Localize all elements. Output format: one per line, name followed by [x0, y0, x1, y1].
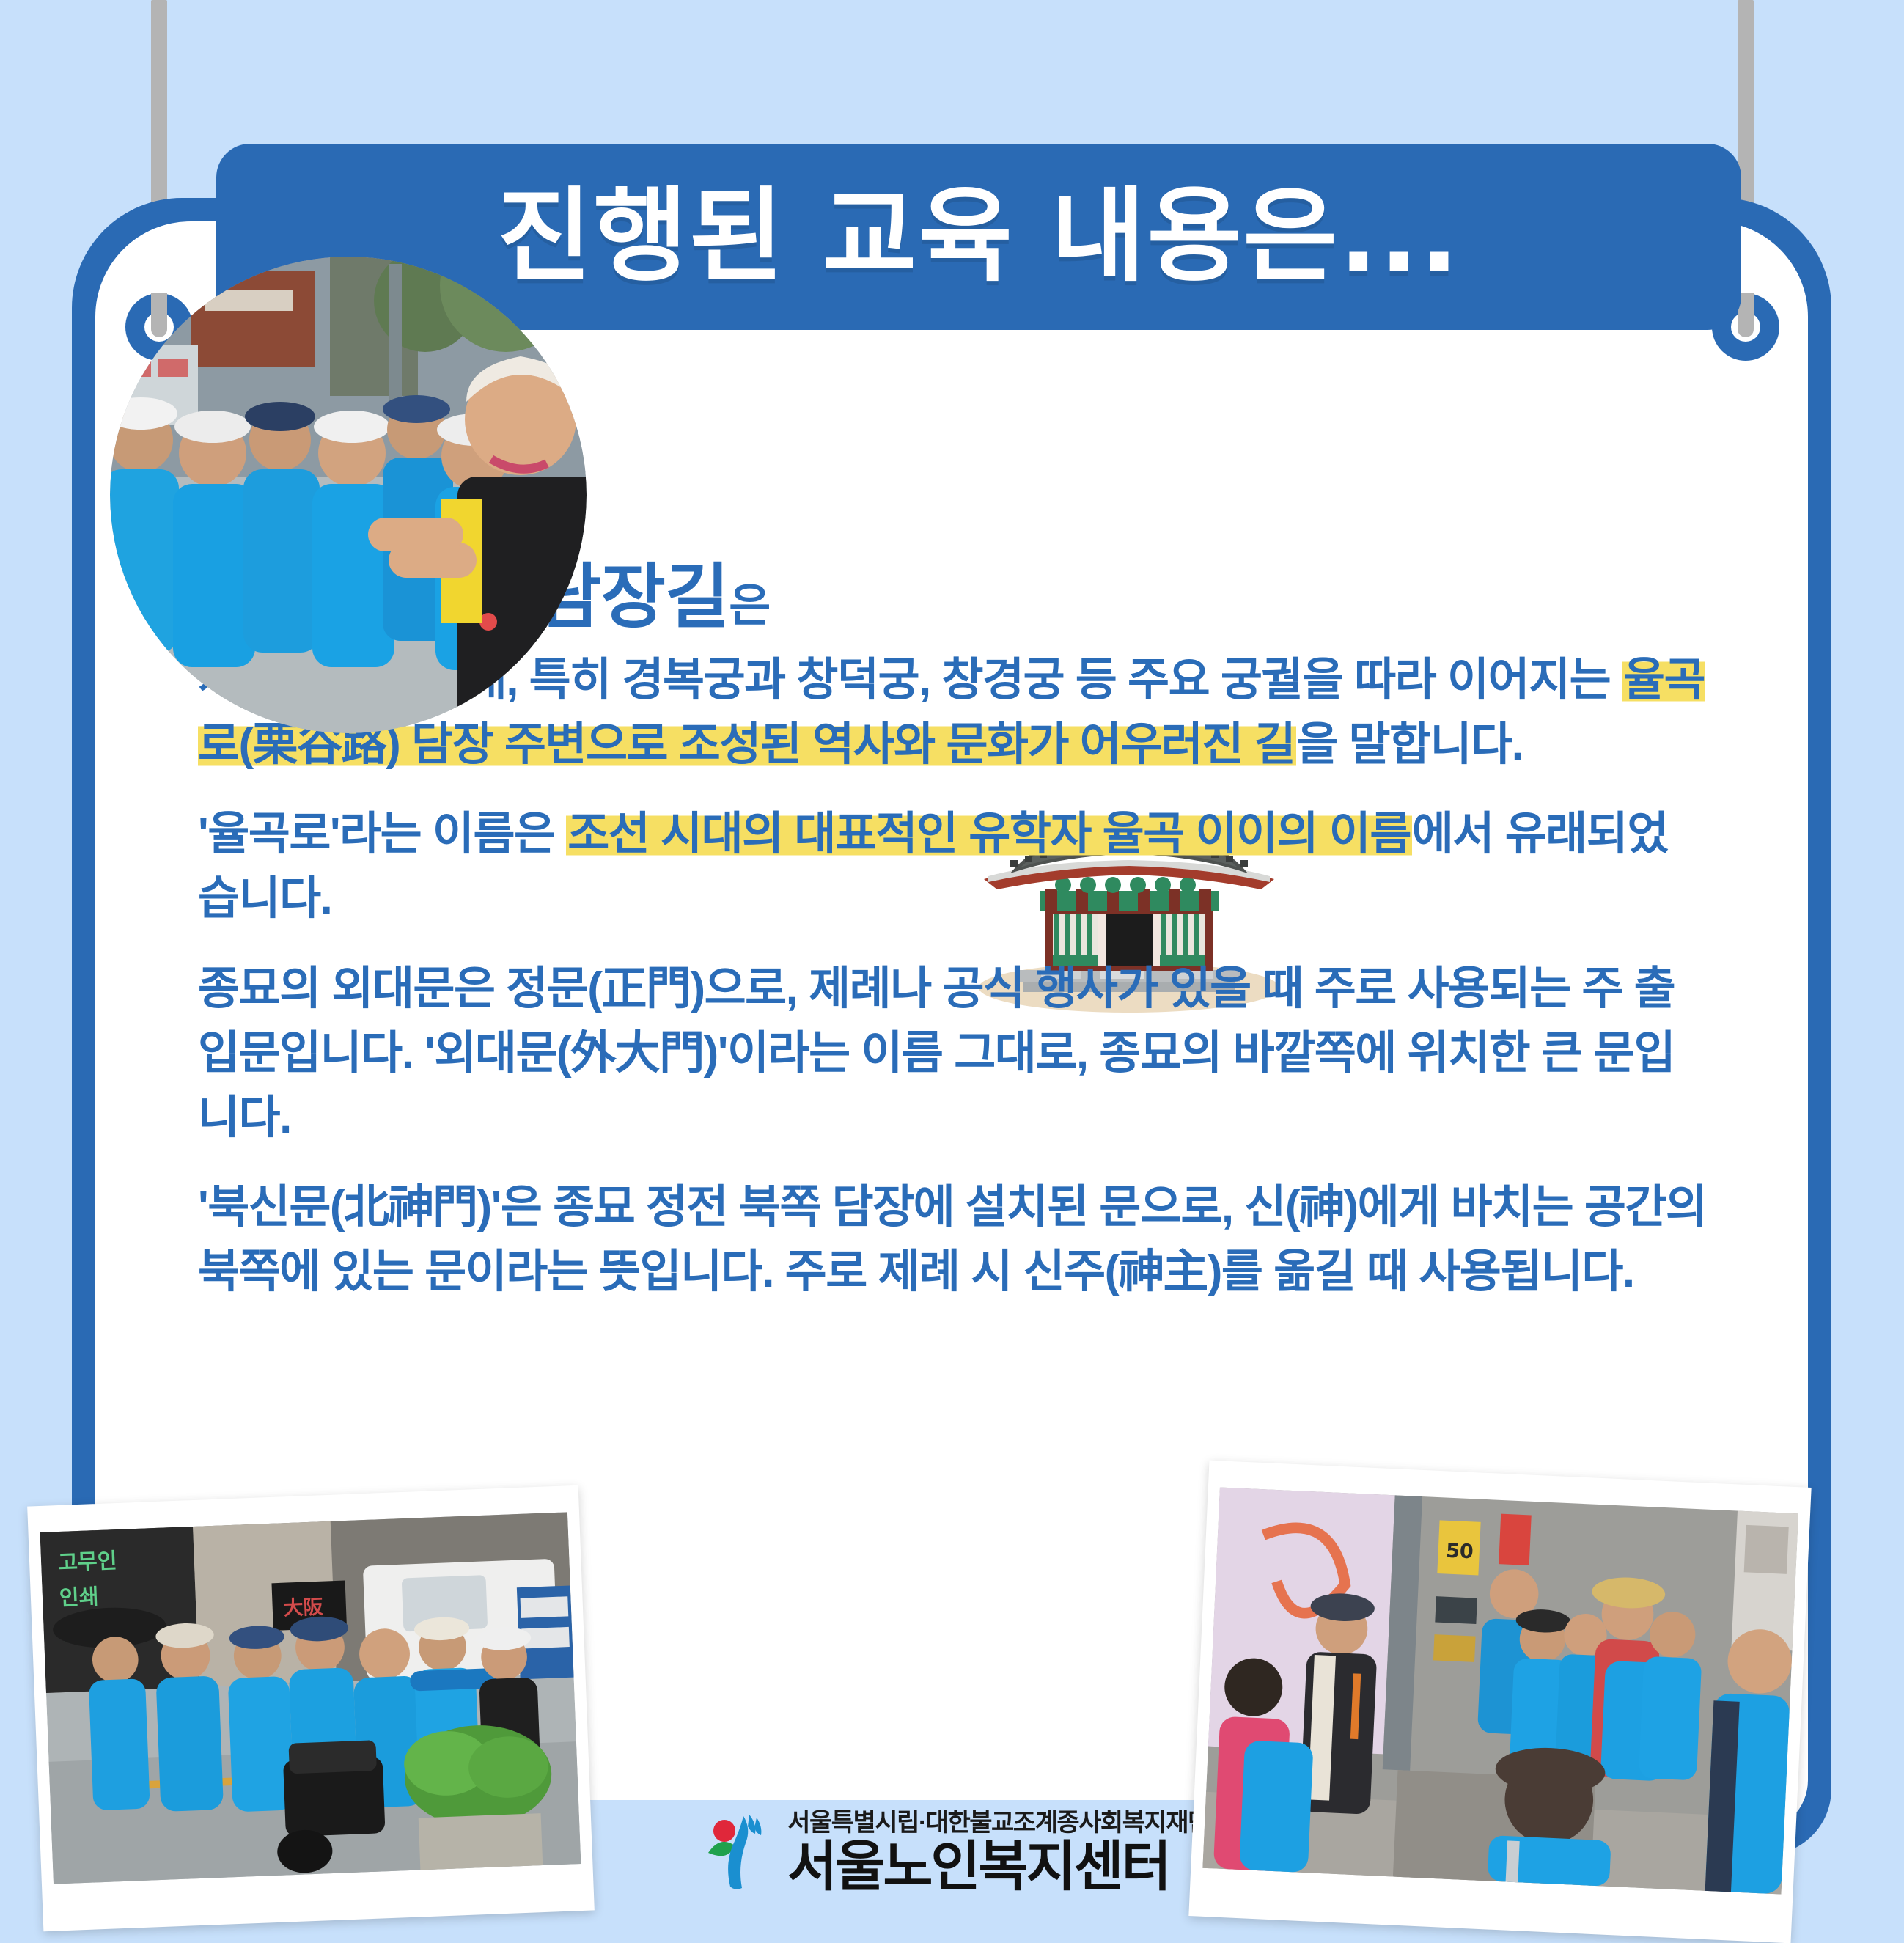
- plain-text: '북신문(北神門)'은 종묘 정전 북쪽 담장에 설치된 문으로, 신(神)에게…: [198, 1182, 1706, 1297]
- organization-main-name: 서울노인복지센터: [787, 1840, 1210, 1894]
- organization-name: 서울특별시립·대한불교조계종사회복지재단 서울노인복지센터: [787, 1810, 1210, 1894]
- photo-wall-lecture: 50: [1188, 1461, 1811, 1943]
- plain-text: 종묘의 외대문은 정문(正門)으로, 제례나 공식 행사가 있을 때 주로 사용…: [198, 963, 1675, 1143]
- photo-group-briefing: [110, 257, 587, 733]
- svg-text:고무인: 고무인: [57, 1548, 117, 1575]
- paragraph-3: 종묘의 외대문은 정문(正門)으로, 제례나 공식 행사가 있을 때 주로 사용…: [198, 957, 1708, 1150]
- plain-text: 을 말합니다.: [1296, 719, 1523, 770]
- svg-text:인쇄: 인쇄: [59, 1584, 99, 1610]
- paragraph-4: '북신문(北神門)'은 종묘 정전 북쪽 담장에 설치된 문으로, 신(神)에게…: [198, 1175, 1708, 1304]
- highlighted-text: 조선 시대의 대표적인 유학자 율곡 이이의 이름: [566, 809, 1412, 859]
- plain-text: '율곡로'라는 이름은: [198, 809, 566, 859]
- organization-parent-name: 서울특별시립·대한불교조계종사회복지재단: [787, 1810, 1210, 1835]
- lead-suffix: 은: [729, 581, 770, 631]
- svg-text:大阪: 大阪: [283, 1595, 324, 1620]
- organization-logo: 서울특별시립·대한불교조계종사회복지재단 서울노인복지센터: [704, 1810, 1210, 1894]
- svg-text:50: 50: [1445, 1540, 1474, 1564]
- paragraph-2: '율곡로'라는 이름은 조선 시대의 대표적인 유학자 율곡 이이의 이름에서 …: [198, 802, 1708, 931]
- page-title: 진행된 교육 내용은...: [497, 186, 1460, 288]
- photo-street-gathering: 고무인인쇄칼라 大阪: [27, 1485, 595, 1931]
- logo-mark-icon: [704, 1812, 774, 1892]
- string-end-left: [151, 293, 167, 337]
